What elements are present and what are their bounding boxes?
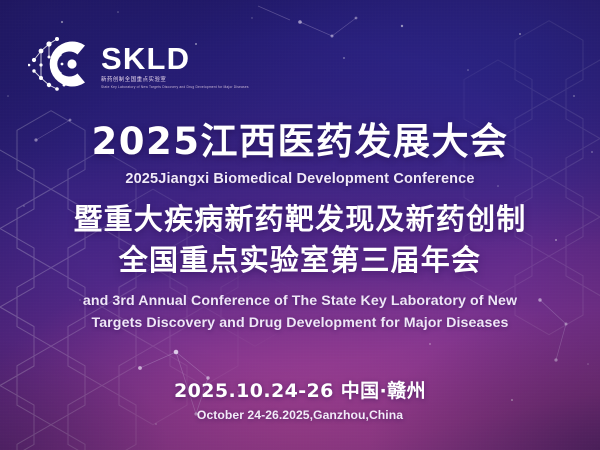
date-venue-english: October 24-26.2025,Ganzhou,China — [0, 408, 600, 422]
subtitle-english-2: Targets Discovery and Drug Development f… — [0, 312, 600, 334]
logo-wordmark: SKLD — [101, 43, 249, 74]
date-venue-block: 2025.10.24-26 中国·赣州 October 24-26.2025,G… — [0, 376, 600, 422]
date-venue-chinese: 2025.10.24-26 中国·赣州 — [0, 376, 600, 403]
logo-english-name: State Key Laboratory of New Targets Disc… — [101, 85, 249, 89]
subtitle-chinese-2: 全国重点实验室第三届年会 — [0, 243, 600, 278]
main-title-english: 2025Jiangxi Biomedical Development Confe… — [0, 171, 600, 187]
subtitle-chinese-1: 暨重大疾病新药靶发现及新药创制 — [0, 202, 600, 237]
subtitle-english-1: and 3rd Annual Conference of The State K… — [0, 290, 600, 312]
title-block: 2025江西医药发展大会 2025Jiangxi Biomedical Deve… — [0, 122, 600, 334]
main-title-chinese: 2025江西医药发展大会 — [0, 122, 600, 163]
skld-molecular-c-logo-icon — [28, 33, 94, 95]
conference-poster: SKLD 新药创制全国重点实验室 State Key Laboratory of… — [0, 0, 600, 450]
skld-logo: SKLD 新药创制全国重点实验室 State Key Laboratory of… — [28, 33, 249, 95]
logo-chinese-name: 新药创制全国重点实验室 — [101, 77, 249, 84]
